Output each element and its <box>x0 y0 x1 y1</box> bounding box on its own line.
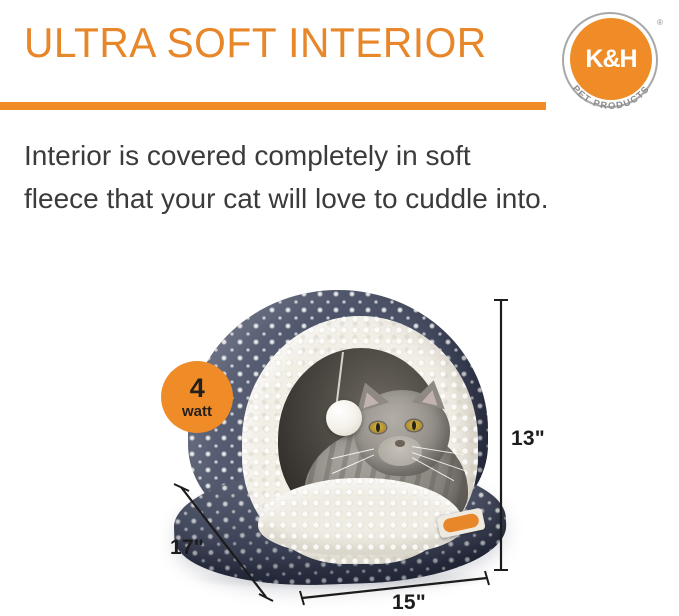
pom-pom-toy <box>326 400 362 436</box>
cat-nose <box>395 440 405 447</box>
logo-tagline-textpath: PET PRODUCTS <box>570 84 653 112</box>
body-copy: Interior is covered completely in soft f… <box>24 134 644 221</box>
product-photo <box>150 282 550 616</box>
cat-pupil-right <box>412 421 416 430</box>
fleece-front-lip <box>258 478 464 556</box>
brand-logo: K&H ® PET PRODUCTS <box>556 10 666 114</box>
cat-cave-bed <box>150 282 550 616</box>
registered-trademark-icon: ® <box>657 18 663 27</box>
page-title: ULTRA SOFT INTERIOR <box>24 22 487 64</box>
header-divider-bar <box>0 102 546 110</box>
cat-pupil-left <box>376 423 380 432</box>
wattage-badge: 4 watt <box>161 361 233 433</box>
cat-ear-inner-right <box>422 388 441 405</box>
logo-tagline-arc: PET PRODUCTS <box>556 70 666 114</box>
infographic-page: ULTRA SOFT INTERIOR K&H ® PET PRODUCTS I… <box>0 0 679 616</box>
wattage-unit: watt <box>182 404 212 419</box>
brand-tag-inner <box>442 512 480 533</box>
wattage-value: 4 <box>190 375 205 402</box>
body-copy-line-2: fleece that your cat will love to cuddle… <box>24 177 644 220</box>
logo-tagline-text: PET PRODUCTS <box>570 84 653 112</box>
body-copy-line-1: Interior is covered completely in soft <box>24 134 644 177</box>
